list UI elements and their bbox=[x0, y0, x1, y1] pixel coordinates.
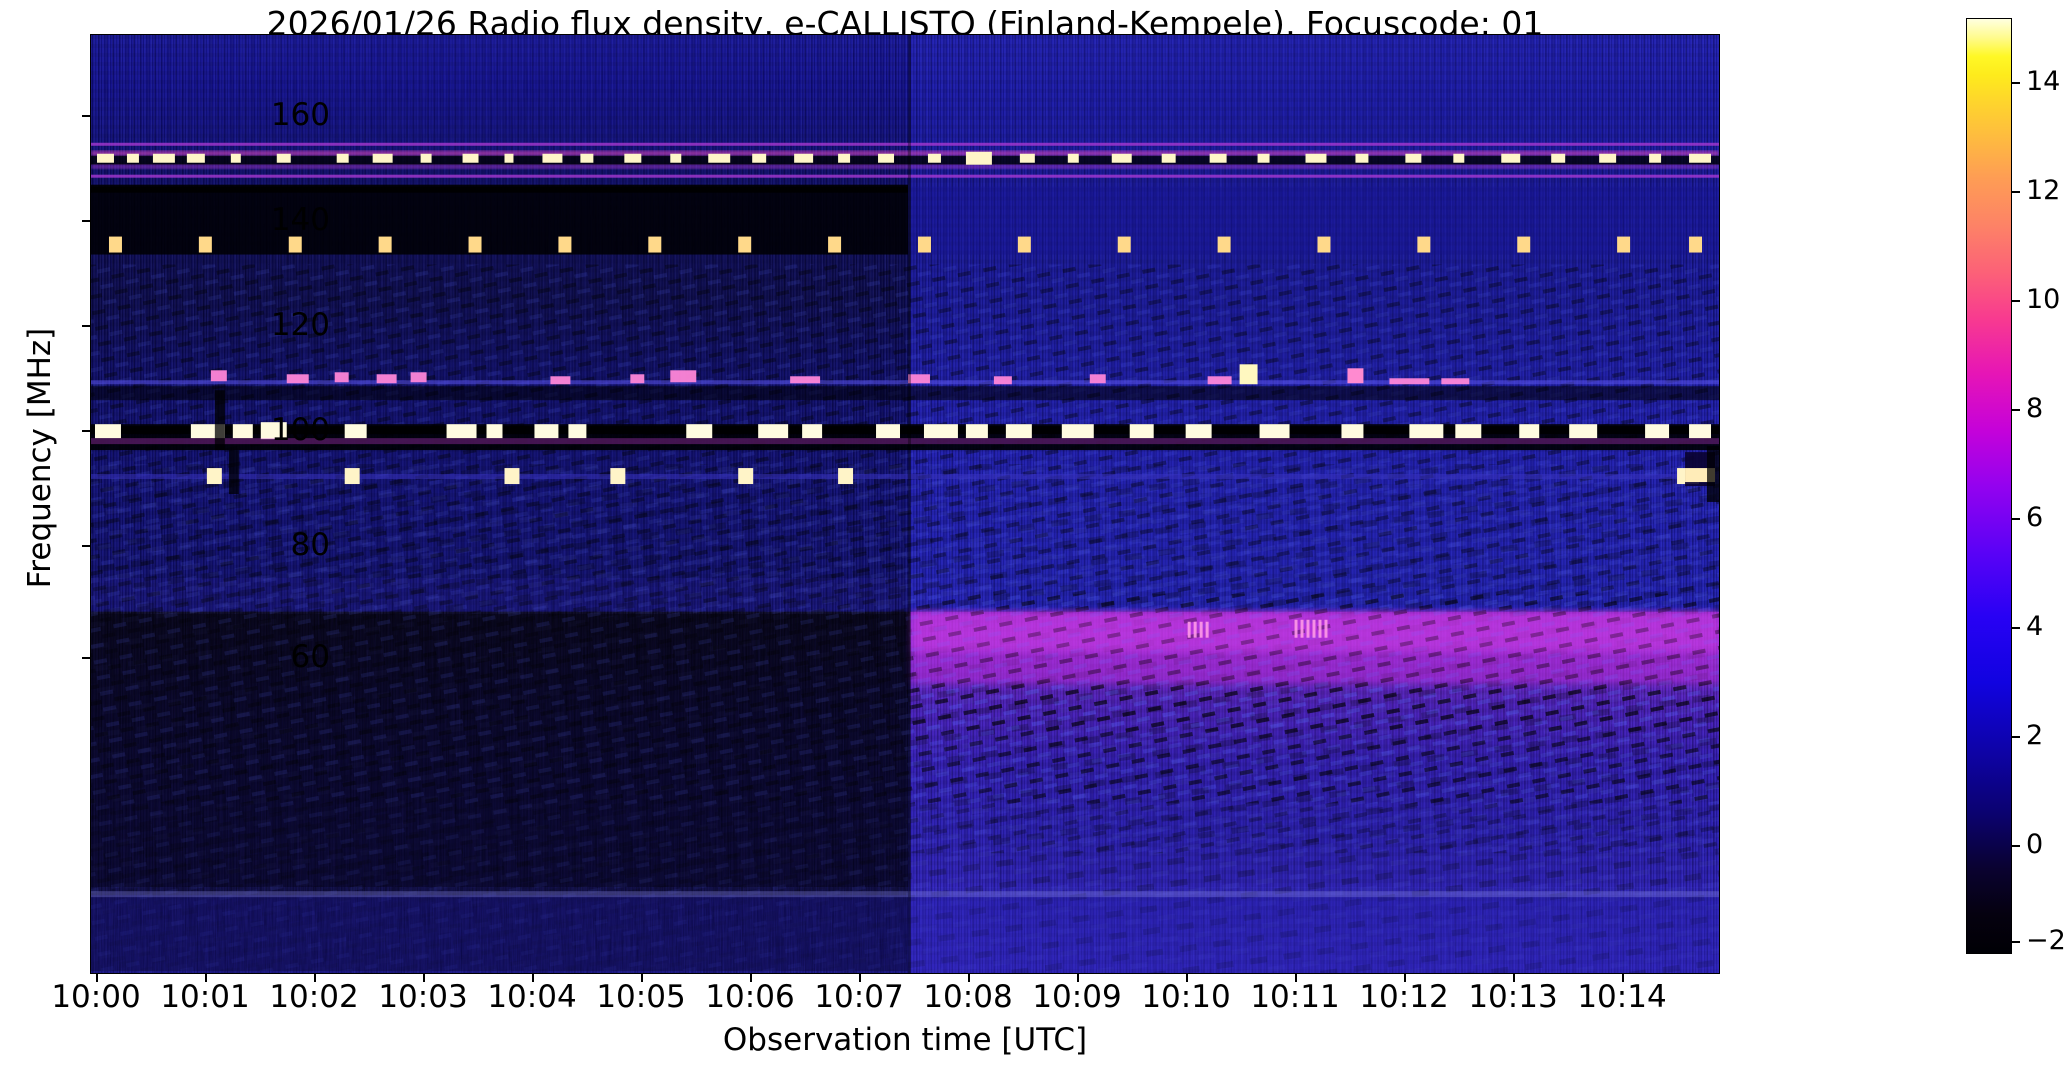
y-tick-mark-160 bbox=[82, 115, 90, 117]
x-tick-mark-1000 bbox=[96, 974, 98, 982]
y-tick-mark-140 bbox=[82, 220, 90, 222]
y-tick-label-60: 60 bbox=[30, 642, 330, 673]
x-tick-mark-1011 bbox=[1295, 974, 1297, 982]
colorbar-tick-label-0: 0 bbox=[2026, 831, 2066, 858]
colorbar-tick-label-6: 6 bbox=[2026, 504, 2066, 531]
colorbar-tick-label-4: 4 bbox=[2026, 613, 2066, 640]
spectrogram-image bbox=[91, 35, 1719, 973]
x-tick-mark-1001 bbox=[205, 974, 207, 982]
y-tick-mark-100 bbox=[82, 430, 90, 432]
x-tick-mark-1005 bbox=[641, 974, 643, 982]
colorbar-tick-label-minus2: −2 bbox=[2026, 927, 2066, 954]
x-tick-mark-1009 bbox=[1077, 974, 1079, 982]
y-tick-label-140: 140 bbox=[30, 205, 330, 236]
x-tick-mark-1004 bbox=[532, 974, 534, 982]
colorbar-tick-mark-4 bbox=[2012, 627, 2020, 629]
y-tick-mark-120 bbox=[82, 325, 90, 327]
y-tick-label-160: 160 bbox=[30, 100, 330, 131]
y-tick-label-120: 120 bbox=[30, 310, 330, 341]
y-tick-label-80: 80 bbox=[30, 530, 330, 561]
colorbar[interactable] bbox=[1966, 18, 2012, 954]
x-tick-mark-1013 bbox=[1513, 974, 1515, 982]
x-tick-mark-1007 bbox=[859, 974, 861, 982]
x-axis-label: Observation time [UTC] bbox=[90, 1022, 1720, 1058]
colorbar-tick-mark-6 bbox=[2012, 518, 2020, 520]
colorbar-tick-mark-0 bbox=[2012, 845, 2020, 847]
colorbar-tick-mark-8 bbox=[2012, 409, 2020, 411]
colorbar-tick-label-10: 10 bbox=[2026, 286, 2066, 313]
y-tick-mark-60 bbox=[82, 657, 90, 659]
colorbar-tick-mark-10 bbox=[2012, 300, 2020, 302]
colorbar-tick-label-14: 14 bbox=[2026, 68, 2066, 95]
colorbar-tick-label-2: 2 bbox=[2026, 722, 2066, 749]
spectrogram-plot[interactable] bbox=[90, 34, 1720, 974]
colorbar-tick-mark-2 bbox=[2012, 736, 2020, 738]
colorbar-tick-mark-minus2 bbox=[2012, 941, 2020, 943]
x-tick-mark-1014 bbox=[1622, 974, 1624, 982]
figure-canvas: 2026/01/26 Radio flux density, e-CALLIST… bbox=[0, 0, 2066, 1067]
x-tick-label-1014: 10:14 bbox=[1522, 982, 1722, 1013]
x-tick-mark-1006 bbox=[750, 974, 752, 982]
colorbar-tick-mark-12 bbox=[2012, 191, 2020, 193]
colorbar-tick-label-8: 8 bbox=[2026, 395, 2066, 422]
colorbar-tick-label-12: 12 bbox=[2026, 177, 2066, 204]
x-tick-mark-1002 bbox=[314, 974, 316, 982]
x-tick-mark-1003 bbox=[423, 974, 425, 982]
x-tick-mark-1008 bbox=[968, 974, 970, 982]
colorbar-tick-mark-14 bbox=[2012, 82, 2020, 84]
x-tick-mark-1010 bbox=[1186, 974, 1188, 982]
y-tick-mark-80 bbox=[82, 545, 90, 547]
y-tick-label-100: 100 bbox=[30, 415, 330, 446]
x-tick-mark-1012 bbox=[1404, 974, 1406, 982]
y-axis-label: Frequency [MHz] bbox=[22, 0, 58, 958]
